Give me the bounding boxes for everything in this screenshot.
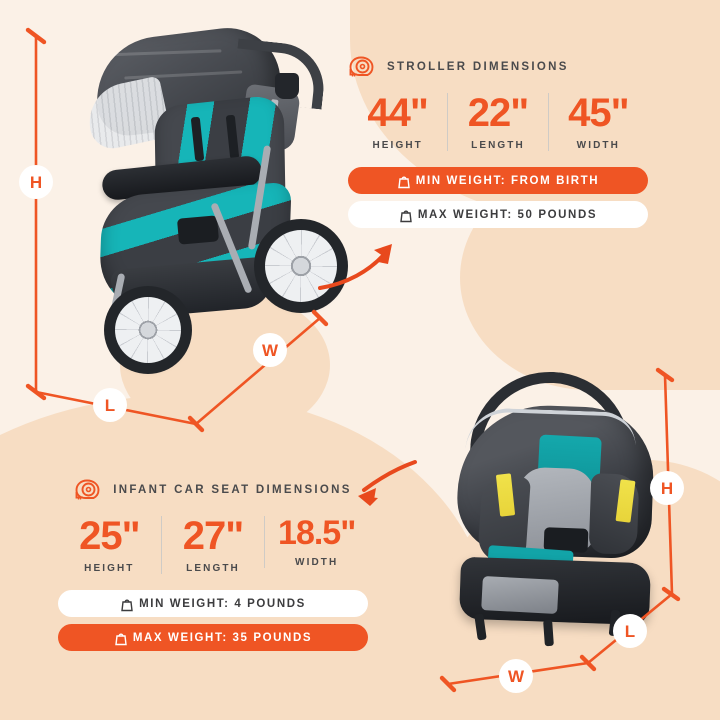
infographic-canvas: H L W H (0, 0, 720, 720)
carseat-product-image (440, 370, 675, 655)
weight-icon (399, 207, 413, 223)
dimension-value: 27" (164, 516, 263, 556)
canopy-rib (113, 49, 221, 56)
carseat-base-tray (481, 576, 559, 614)
weight-icon (114, 630, 128, 646)
carseat-panel-title: INFANT CAR SEAT DIMENSIONS (113, 484, 351, 496)
dimension-value: 45" (551, 93, 646, 133)
stroller-max-weight-badge: MAX WEIGHT: 50 POUNDS (348, 201, 648, 228)
dimension-label: WIDTH (267, 557, 366, 568)
dimension-label: WIDTH (551, 140, 646, 151)
carseat-min-weight-badge: MIN WEIGHT: 4 POUNDS (58, 590, 368, 617)
tape-measure-icon (348, 55, 378, 79)
dimension-label: LENGTH (450, 140, 545, 151)
carseat-dimension-length: 27" LENGTH (161, 516, 265, 574)
badge-text: MAX WEIGHT: 50 POUNDS (418, 209, 597, 221)
carseat-dimensions-row: 25" HEIGHT 27" LENGTH 18.5" WIDTH (58, 516, 368, 574)
stroller-buckle (177, 215, 219, 244)
carseat-dimension-height: 25" HEIGHT (58, 516, 161, 574)
carseat-weight-badges: MIN WEIGHT: 4 POUNDS MAX WEIGHT: 35 POUN… (58, 590, 368, 651)
stroller-rear-wheel (265, 230, 337, 302)
dimension-label: LENGTH (164, 563, 263, 574)
stroller-dimension-length: 22" LENGTH (447, 93, 547, 151)
dimension-label: HEIGHT (60, 563, 159, 574)
carseat-base-foot (543, 620, 554, 647)
tape-measure-icon (74, 478, 104, 502)
weight-icon (397, 173, 411, 189)
carseat-max-weight-badge: MAX WEIGHT: 35 POUNDS (58, 624, 368, 651)
carseat-spec-panel: INFANT CAR SEAT DIMENSIONS 25" HEIGHT 27… (58, 478, 368, 651)
badge-text: MIN WEIGHT: 4 POUNDS (139, 598, 306, 610)
carseat-panel-header: INFANT CAR SEAT DIMENSIONS (58, 478, 368, 502)
carseat-dimension-width: 18.5" WIDTH (264, 516, 368, 568)
dimension-value: 18.5" (267, 516, 366, 550)
dimension-value: 22" (450, 93, 545, 133)
weight-icon (120, 596, 134, 612)
stroller-dimension-width: 45" WIDTH (548, 93, 648, 151)
carseat-base-foot (609, 610, 621, 637)
stroller-dimension-height: 44" HEIGHT (348, 93, 447, 151)
dimension-label: HEIGHT (350, 140, 445, 151)
badge-text: MAX WEIGHT: 35 POUNDS (133, 632, 312, 644)
stroller-min-weight-badge: MIN WEIGHT: FROM BIRTH (348, 167, 648, 194)
stroller-product-image (60, 25, 360, 325)
stroller-dimensions-row: 44" HEIGHT 22" LENGTH 45" WIDTH (348, 93, 648, 151)
stroller-front-wheel (115, 297, 181, 363)
dimension-value: 44" (350, 93, 445, 133)
stroller-cup-holder (275, 73, 299, 99)
stroller-panel-title: STROLLER DIMENSIONS (387, 61, 569, 73)
stroller-spec-panel: STROLLER DIMENSIONS 44" HEIGHT 22" LENGT… (348, 55, 648, 228)
stroller-panel-header: STROLLER DIMENSIONS (348, 55, 648, 79)
badge-text: MIN WEIGHT: FROM BIRTH (416, 175, 599, 187)
stroller-weight-badges: MIN WEIGHT: FROM BIRTH MAX WEIGHT: 50 PO… (348, 167, 648, 228)
dimension-value: 25" (60, 516, 159, 556)
